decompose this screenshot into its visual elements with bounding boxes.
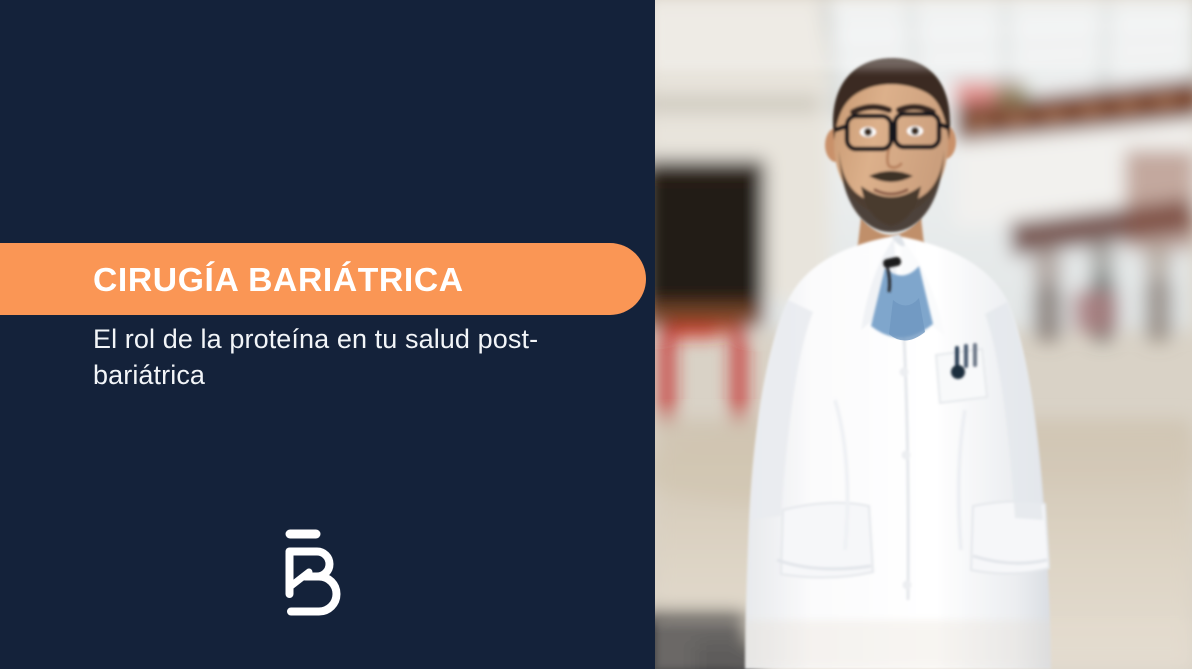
doctor-portrait-photo: [655, 0, 1192, 669]
left-content-panel: CIRUGÍA BARIÁTRICA El rol de la proteína…: [0, 0, 655, 669]
doctor-portrait-illustration: [655, 0, 1192, 669]
subtitle-text: El rol de la proteína en tu salud post-b…: [93, 322, 613, 393]
title-badge-label: CIRUGÍA BARIÁTRICA: [93, 263, 464, 296]
b-monogram-logo: [283, 528, 345, 618]
title-badge: CIRUGÍA BARIÁTRICA: [0, 243, 646, 315]
slide-root: CIRUGÍA BARIÁTRICA El rol de la proteína…: [0, 0, 1192, 669]
b-monogram-icon: [283, 528, 345, 618]
